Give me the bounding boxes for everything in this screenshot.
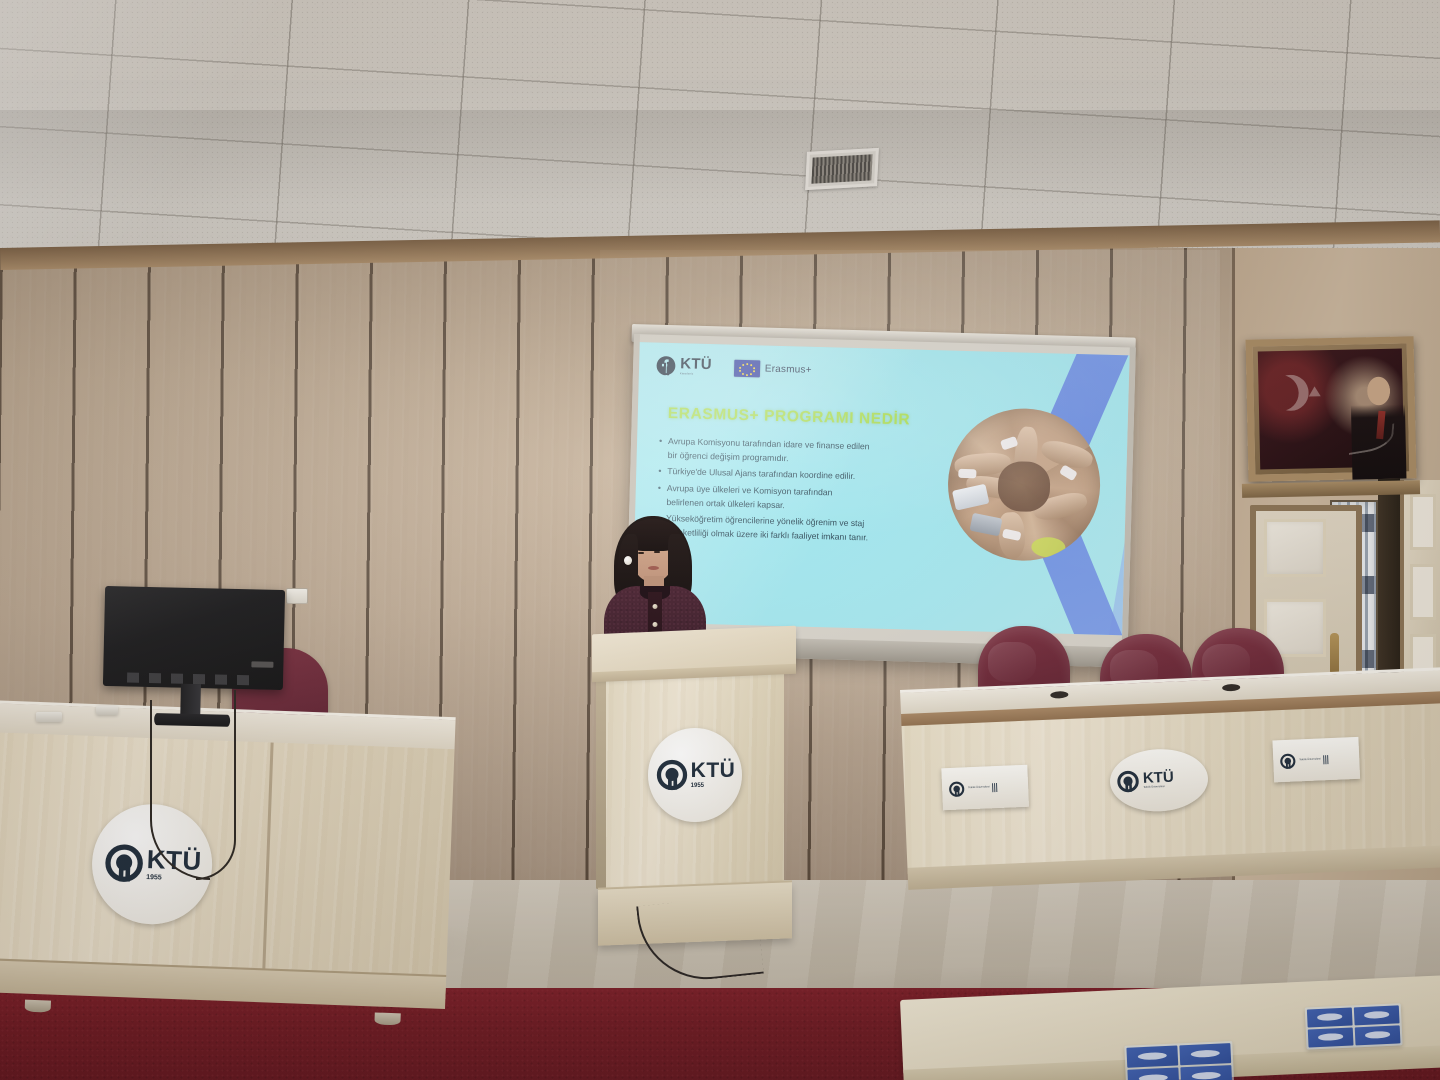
presenter-mouth	[648, 566, 659, 570]
panel-desk: KTÜ Teknik Üniversitesi Teknik Üniversit…	[900, 667, 1440, 890]
monitor-rear-panel	[103, 586, 285, 690]
panel-placard-right: Teknik Üniversitesi	[1272, 737, 1360, 783]
panel-placard-right-text: Teknik Üniversitesi	[1299, 758, 1321, 762]
podium-ktu-year: 1955	[691, 783, 736, 789]
slide-bullet-item: Avrupa Komisyonu tarafından idare ve fin…	[659, 435, 872, 469]
left-desk-foot-2	[374, 1012, 400, 1025]
portrait-artwork	[1258, 349, 1404, 470]
ktu-glyph-icon	[102, 841, 146, 885]
panel-placard-center-wordmark: KTÜ	[1143, 771, 1174, 787]
door-glass-pane-top	[1264, 519, 1326, 577]
turkish-flag-star-icon	[1309, 386, 1321, 396]
panel-placard-right-bars	[1324, 755, 1329, 764]
water-bottle-cap	[1355, 1025, 1401, 1045]
ataturk-portrait	[1246, 336, 1417, 481]
water-bottle-cap	[1126, 1045, 1178, 1067]
ktu-logo-wordmark: KTÜ	[680, 357, 712, 373]
secondary-door-pane-2	[1410, 564, 1436, 620]
ktu-logo: KTÜ Karadeniz	[655, 355, 712, 379]
wall-light-switch[interactable]	[286, 588, 308, 604]
eu-flag-icon	[734, 359, 760, 377]
photo-device-2	[969, 513, 1002, 537]
photo-hand-stack-center	[997, 461, 1050, 512]
ktu-logo-subline-1: Karadeniz	[680, 373, 712, 377]
water-bottle-cap	[1127, 1067, 1179, 1080]
water-bottle-cap	[1307, 1008, 1353, 1028]
panel-placard-left: Teknik Üniversitesi	[941, 765, 1029, 811]
podium-ktu-wordmark: KTÜ	[691, 761, 736, 781]
slide-logo-row: KTÜ Karadeniz	[655, 355, 812, 381]
presenter-earring	[624, 556, 632, 565]
ktu-glyph-icon	[655, 355, 678, 378]
desk-monitor[interactable]	[103, 586, 285, 690]
door-handle-icon[interactable]	[1330, 633, 1339, 675]
panel-placard-left-text: Teknik Üniversitesi	[968, 786, 990, 790]
desk-small-object-2	[96, 706, 118, 715]
monitor-brand-badge	[251, 661, 273, 667]
water-bottle-cap	[1308, 1027, 1354, 1047]
panel-placard-left-bars	[992, 783, 997, 792]
turkish-flag-crescent-icon	[1272, 374, 1309, 411]
podium-ktu-emblem: KTÜ 1955	[648, 728, 742, 822]
ktu-glyph-icon	[948, 780, 966, 798]
vent-louvers	[811, 154, 872, 183]
presenter-button-2	[653, 622, 658, 627]
photo-cuff-2	[958, 469, 976, 478]
desk-small-object-1	[36, 712, 62, 722]
water-bottle-cap	[1179, 1043, 1231, 1065]
water-bottle-pack-1	[1124, 1041, 1234, 1080]
water-bottle-cap	[1354, 1005, 1400, 1025]
slide-title: ERASMUS+ PROGRAMI NEDİR	[668, 405, 911, 430]
photo-device-1	[952, 484, 990, 511]
ktu-glyph-icon	[1116, 769, 1141, 794]
ktu-glyph-icon	[655, 758, 689, 792]
presenter-button-1	[653, 604, 658, 609]
ceiling-highlight	[0, 0, 310, 280]
conference-hall-photo: KTÜ Karadeniz	[0, 0, 1440, 1080]
secondary-door-pane-1	[1410, 494, 1436, 550]
water-bottle-pack-2	[1305, 1003, 1403, 1049]
ktu-glyph-icon	[1279, 752, 1297, 770]
erasmus-logo: Erasmus+	[734, 359, 812, 378]
air-vent-grille-icon	[805, 148, 879, 190]
water-bottle-cap	[1180, 1065, 1232, 1080]
left-desk-foot-1	[25, 1000, 51, 1013]
monitor-cable-right	[196, 690, 236, 880]
erasmus-label: Erasmus+	[765, 363, 812, 375]
